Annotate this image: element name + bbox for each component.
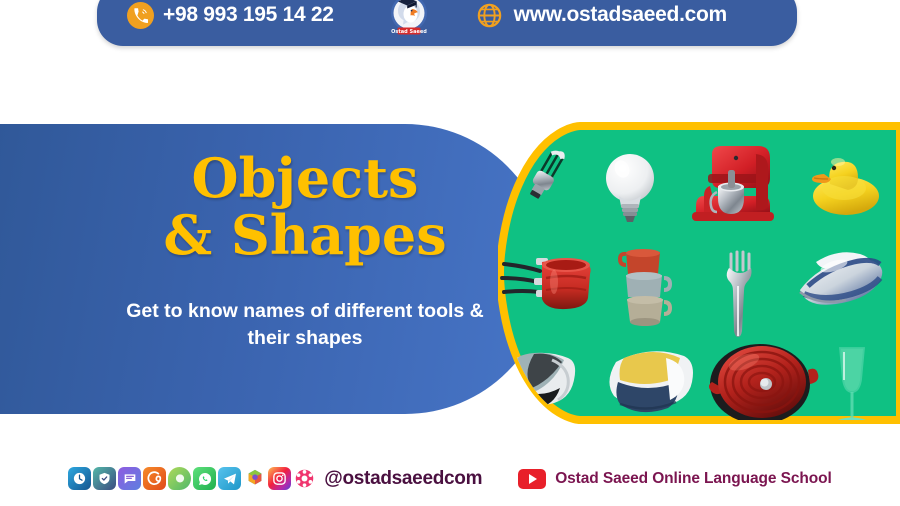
whatsapp-icon[interactable]: [193, 467, 216, 490]
instagram-icon[interactable]: [268, 467, 291, 490]
bisphone-icon[interactable]: [168, 467, 191, 490]
phone-call-icon: [127, 2, 154, 29]
phone-contact-group[interactable]: +98 993 195 14 22: [127, 2, 334, 29]
soroush-icon[interactable]: [68, 467, 91, 490]
page-title: Objects & Shapes: [163, 150, 446, 264]
website-url: www.ostadsaeed.com: [514, 3, 727, 27]
objects-green-panel: [498, 120, 900, 426]
phone-number: +98 993 195 14 22: [163, 3, 334, 27]
igap-icon[interactable]: [93, 467, 116, 490]
social-handle: @ostadsaeedcom: [324, 468, 482, 490]
bale-icon[interactable]: [293, 467, 316, 490]
gap-icon[interactable]: [118, 467, 141, 490]
ostad-saeed-logo: Ostad Saeed: [386, 0, 432, 38]
telegram-icon[interactable]: [218, 467, 241, 490]
eitaa-icon[interactable]: [143, 467, 166, 490]
social-icons-group[interactable]: @ostadsaeedcom: [68, 467, 482, 490]
top-contact-banner: +98 993 195 14 22 Ostad Saeed: [97, 0, 797, 46]
hero-text-block: Objects & Shapes Get to know names of di…: [60, 124, 550, 414]
title-line-1: Objects: [192, 146, 419, 210]
footer-bar: @ostadsaeedcom Ostad Saeed Online Langua…: [0, 467, 900, 490]
youtube-icon: [518, 469, 546, 489]
globe-icon: [476, 2, 503, 29]
youtube-channel-label: Ostad Saeed Online Language School: [555, 470, 832, 488]
rubika-icon[interactable]: [243, 467, 266, 490]
website-group[interactable]: www.ostadsaeed.com: [476, 2, 727, 29]
page-subtitle: Get to know names of different tools & t…: [105, 264, 505, 351]
svg-text:Ostad Saeed: Ostad Saeed: [391, 29, 427, 35]
title-line-2: & Shapes: [163, 207, 446, 264]
youtube-channel-group[interactable]: Ostad Saeed Online Language School: [518, 469, 832, 489]
